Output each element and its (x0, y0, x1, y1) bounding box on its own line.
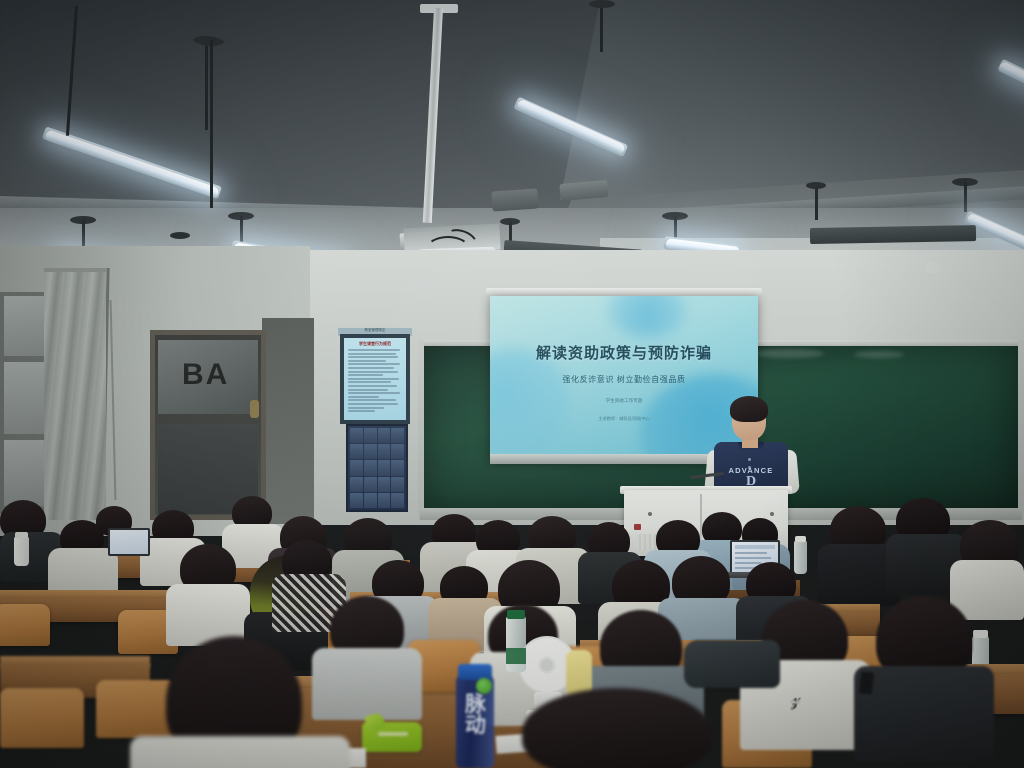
slide-decoration-blob-3 (608, 296, 686, 338)
wall-locker-cabinet[interactable] (346, 424, 408, 512)
podium-screw-1 (648, 512, 652, 516)
slide-meta-line-1: 学生资助工作专题 (490, 398, 758, 404)
mizone-bottle-logo (476, 678, 492, 694)
light-rod-4 (240, 216, 243, 242)
water-bottle-cap (15, 532, 28, 538)
water-bottle[interactable] (794, 540, 807, 574)
presenter-shirt-button-1 (748, 458, 751, 461)
smoke-detector-icon (926, 262, 940, 273)
light-rod-8 (674, 216, 677, 238)
student-tablet[interactable] (108, 528, 150, 556)
window-mullion-1 (4, 356, 48, 362)
light-rod-cap-5 (589, 0, 615, 8)
light-rod-1 (205, 40, 208, 130)
light-rod-7 (964, 182, 967, 212)
classroom-photo: BA 教室管理规定 学生课堂行为规范 解读资助政策 (0, 0, 1024, 768)
foreground-student-body (130, 736, 350, 768)
presenter-hair (730, 396, 768, 422)
window-pane-1 (4, 296, 48, 356)
student-body (312, 648, 422, 720)
water-bottle-cap (795, 536, 806, 542)
door-sign-text: BA (182, 358, 229, 392)
pencil-case-label (378, 732, 408, 736)
ceiling-heater-2 (810, 225, 976, 244)
window-pane-3 (4, 440, 48, 506)
window-pane-2 (4, 362, 48, 434)
student-body (950, 560, 1024, 620)
podium-indicator-light (634, 524, 641, 530)
poster-title: 学生课堂行为规范 (348, 341, 402, 347)
classroom-chair[interactable] (0, 604, 50, 646)
light-rod-3 (210, 40, 213, 208)
window-curtain[interactable] (44, 272, 106, 520)
slide-subtitle: 强化反诈意识 树立勤俭自强品质 (490, 374, 758, 385)
mobile-phone[interactable] (859, 671, 874, 694)
water-bottle-label (506, 648, 526, 664)
slide-title: 解读资助政策与预防诈骗 (490, 342, 758, 363)
slide-meta-line-2: 主讲教师：辅导员/资助中心 (490, 416, 758, 422)
ceiling-plane-right (560, 0, 1024, 200)
classroom-chair[interactable] (0, 688, 84, 748)
door-frame-side (262, 318, 314, 524)
water-bottle-cap (973, 630, 988, 638)
mizone-bottle-brand: 脉动 (456, 694, 494, 736)
heater-cap-3 (170, 232, 190, 239)
heater-rod-1 (509, 222, 512, 242)
water-bottle[interactable] (14, 536, 29, 566)
student-body (854, 666, 994, 762)
classroom-chair[interactable] (96, 680, 176, 738)
projection-screen: 解读资助政策与预防诈骗 强化反诈意识 树立勤俭自强品质 学生资助工作专题 主讲教… (490, 296, 758, 462)
water-bottle-cap-green (507, 610, 525, 619)
backpack[interactable] (684, 640, 780, 688)
heater-rod-2 (815, 188, 818, 220)
door-handle[interactable] (250, 400, 259, 418)
wall-notice-poster: 学生课堂行为规范 (340, 334, 410, 424)
podium-screw-2 (770, 512, 774, 516)
window-mullion-2 (4, 434, 48, 440)
wall-speaker-icon (491, 188, 538, 211)
foreground-student-hair (522, 688, 712, 768)
